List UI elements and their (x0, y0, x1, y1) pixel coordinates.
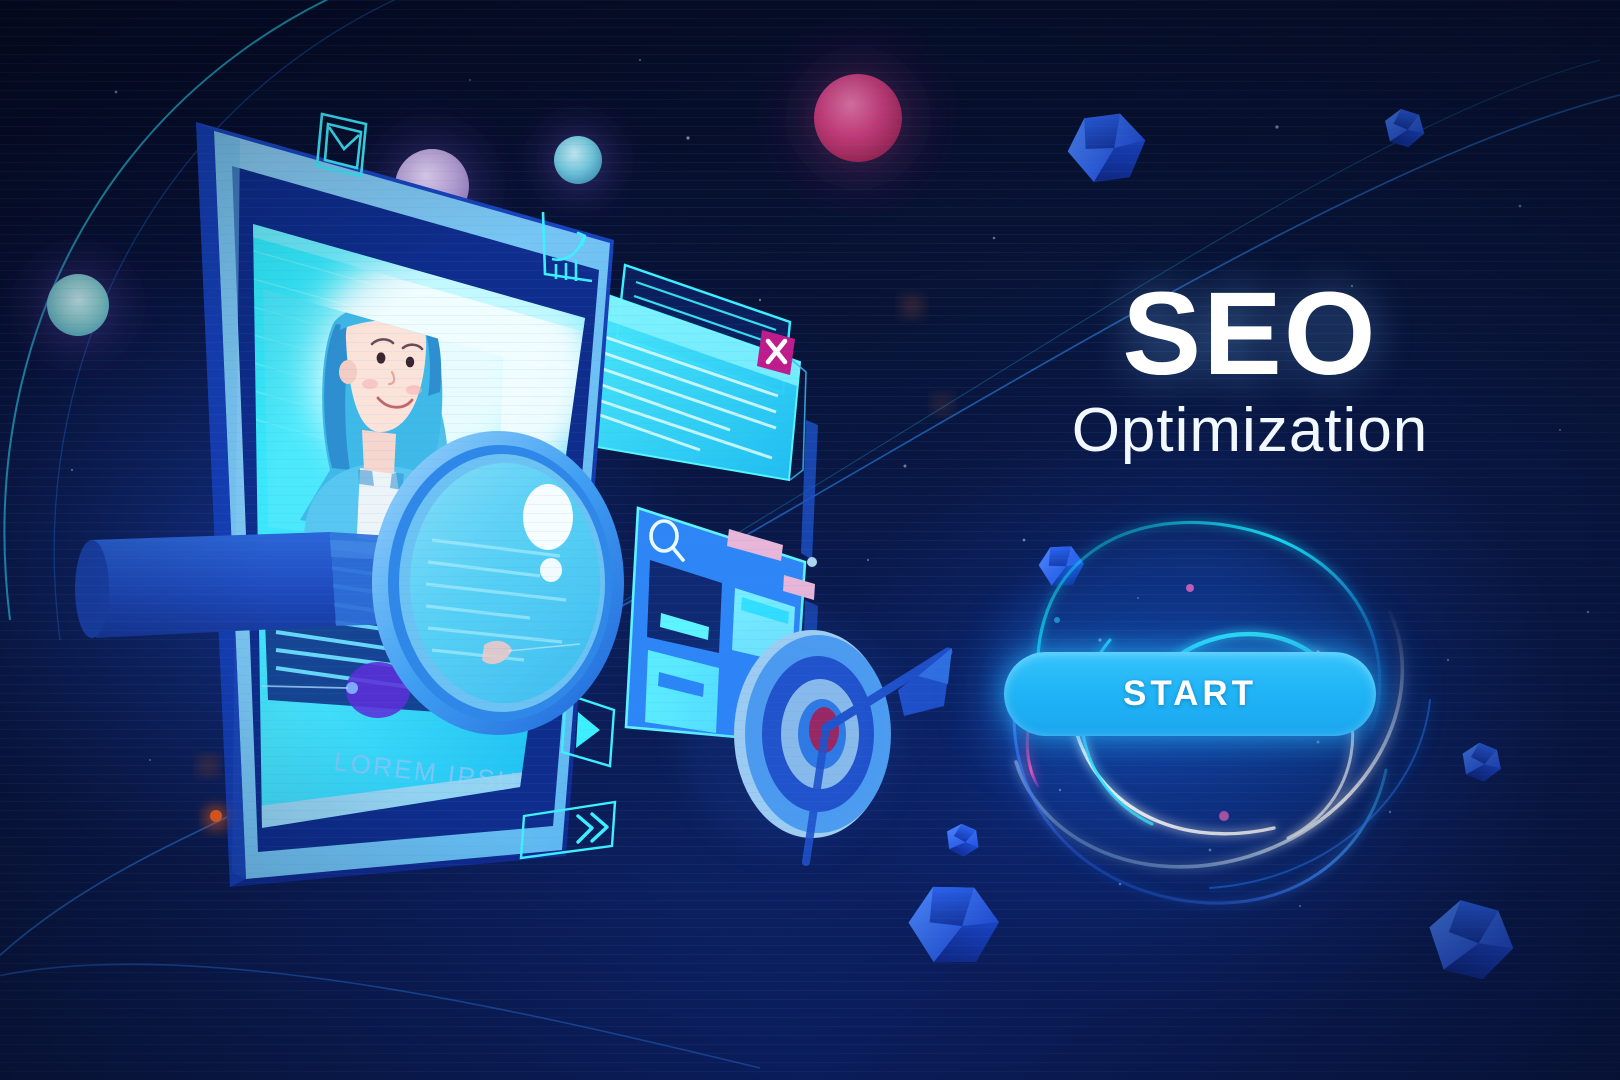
page-title: SEO (1040, 278, 1460, 390)
start-orbit-rings-layer (0, 0, 1620, 1080)
start-button-wrapper: START (1004, 652, 1376, 736)
seo-landing-illustration: LOREM IPSUM (0, 0, 1620, 1080)
headline-block: SEO Optimization (1040, 278, 1460, 467)
start-button[interactable]: START (1004, 652, 1376, 736)
page-subtitle: Optimization (1040, 394, 1460, 467)
